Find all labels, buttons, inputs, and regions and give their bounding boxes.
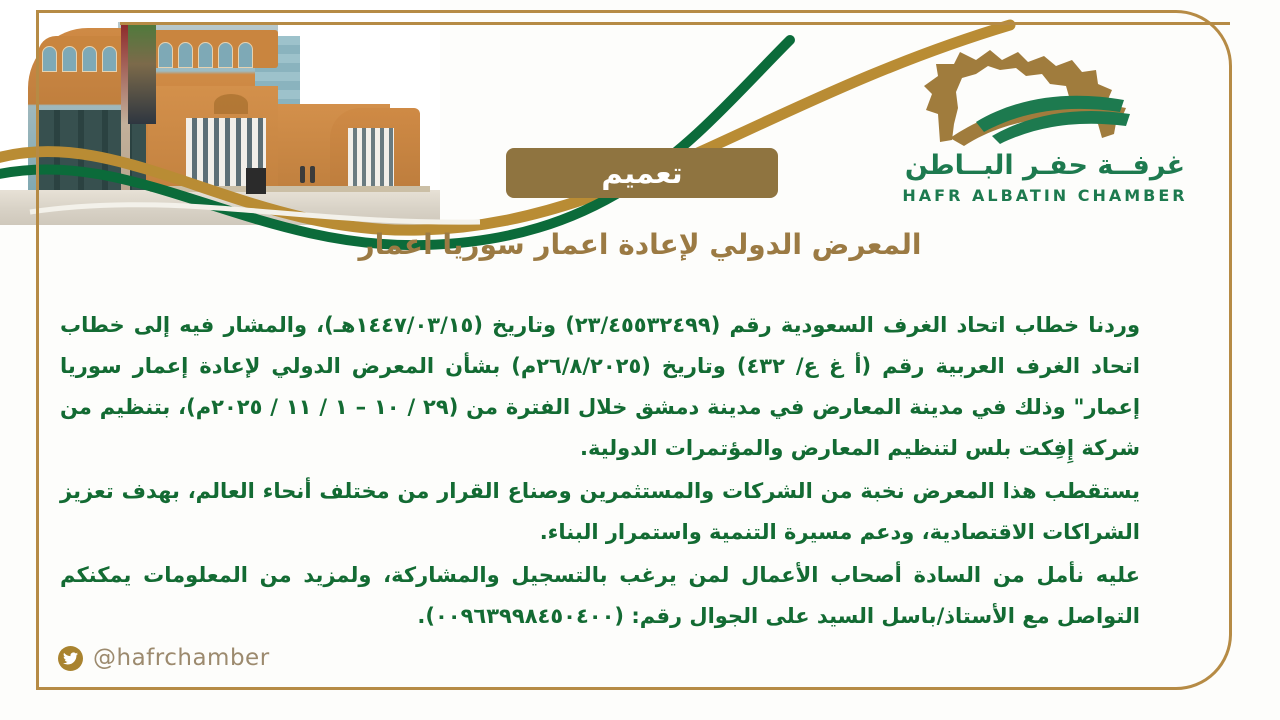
twitter-bird-glyph [63,652,78,665]
window [158,42,173,68]
window [238,42,253,68]
body-paragraph-2: يستقطب هذا المعرض نخبة من الشركات والمست… [60,471,1140,553]
body-paragraph-3: عليه نأمل من السادة أصحاب الأعمال لمن ير… [60,555,1140,637]
pedestrian [300,166,305,183]
window [102,46,117,72]
announcement-body: وردنا خطاب اتحاد الغرف السعودية رقم (٢٣/… [60,305,1140,639]
street-ground [0,190,440,225]
window [198,42,213,68]
poster-top-rule [120,22,1230,25]
window-row-main [158,42,253,68]
window [82,46,97,72]
twitter-bird-icon[interactable] [58,646,83,671]
social-handle[interactable]: @hafrchamber [58,645,270,671]
window-row-left [42,46,117,72]
logo-name-arabic: غرفــة حفـر البــاطن [880,150,1210,181]
social-handle-text[interactable]: @hafrchamber [93,645,270,671]
pedestrian [310,166,315,183]
window [178,42,193,68]
window [218,42,233,68]
logo-mark-icon [880,42,1210,152]
window [62,46,77,72]
circular-poster: غرفــة حفـر البــاطن HAFR ALBATIN CHAMBE… [0,0,1280,720]
window [42,46,57,72]
logo-name-english: HAFR ALBATIN CHAMBER [880,186,1210,205]
page-title: المعرض الدولي لإعادة اعمار سوريا اعمار [180,228,1100,261]
circular-badge-label: تعميم [601,156,682,190]
building-emblem [214,94,248,114]
street-kerb [150,186,430,192]
circular-badge: تعميم [506,148,778,198]
building-colonnade-secondary [348,128,394,188]
chamber-building-photo [0,0,440,225]
banner-portrait [128,24,156,124]
street-object [246,168,266,194]
body-paragraph-1: وردنا خطاب اتحاد الغرف السعودية رقم (٢٣/… [60,305,1140,469]
chamber-logo: غرفــة حفـر البــاطن HAFR ALBATIN CHAMBE… [880,42,1210,212]
